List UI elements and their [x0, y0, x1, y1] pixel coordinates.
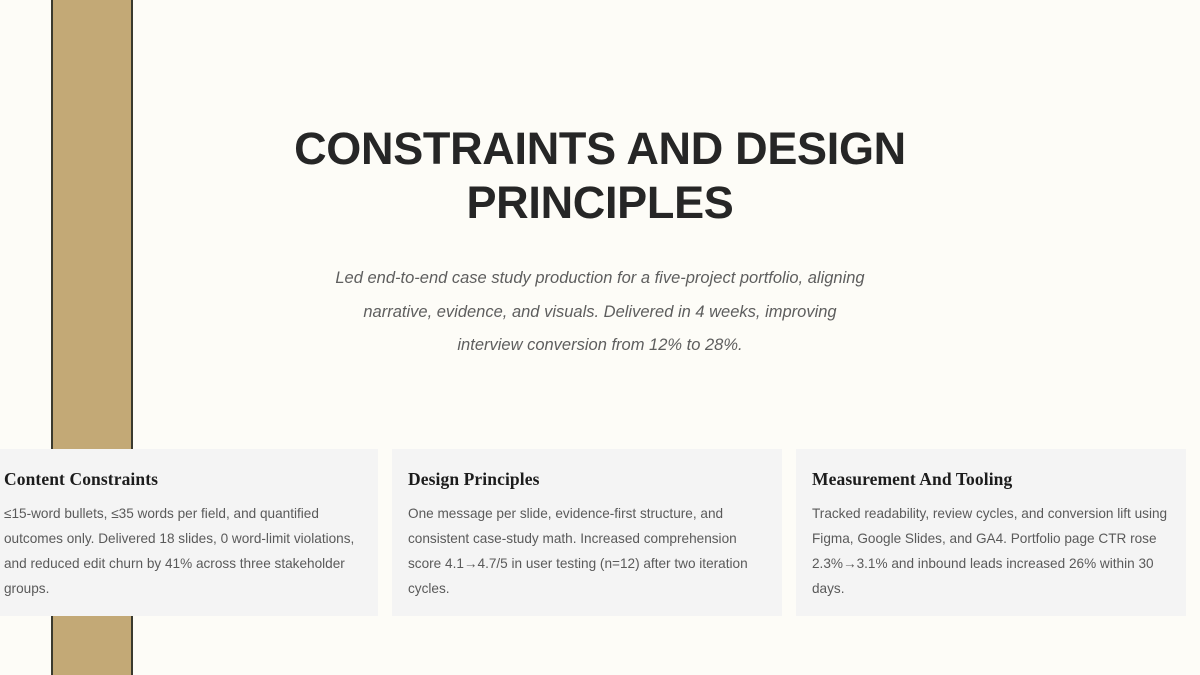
- card-heading: Content Constraints: [4, 469, 360, 489]
- card-measurement-and-tooling: Measurement And Tooling Tracked readabil…: [796, 449, 1186, 616]
- card-body-text: Tracked readability, review cycles, and …: [812, 501, 1168, 601]
- card-design-principles: Design Principles One message per slide,…: [392, 449, 782, 616]
- card-body-text: One message per slide, evidence-first st…: [408, 501, 764, 601]
- page-title: CONSTRAINTS AND DESIGN PRINCIPLES: [130, 122, 1070, 230]
- card-row: Content Constraints ≤15-word bullets, ≤3…: [0, 449, 1186, 616]
- card-heading: Design Principles: [408, 469, 764, 489]
- slide-canvas: CONSTRAINTS AND DESIGN PRINCIPLES Led en…: [0, 0, 1200, 675]
- card-body-text: ≤15-word bullets, ≤35 words per field, a…: [4, 501, 360, 601]
- page-subtitle: Led end-to-end case study production for…: [330, 262, 870, 363]
- hero-section: CONSTRAINTS AND DESIGN PRINCIPLES Led en…: [0, 0, 1200, 449]
- card-heading: Measurement And Tooling: [812, 469, 1168, 489]
- card-content-constraints: Content Constraints ≤15-word bullets, ≤3…: [0, 449, 378, 616]
